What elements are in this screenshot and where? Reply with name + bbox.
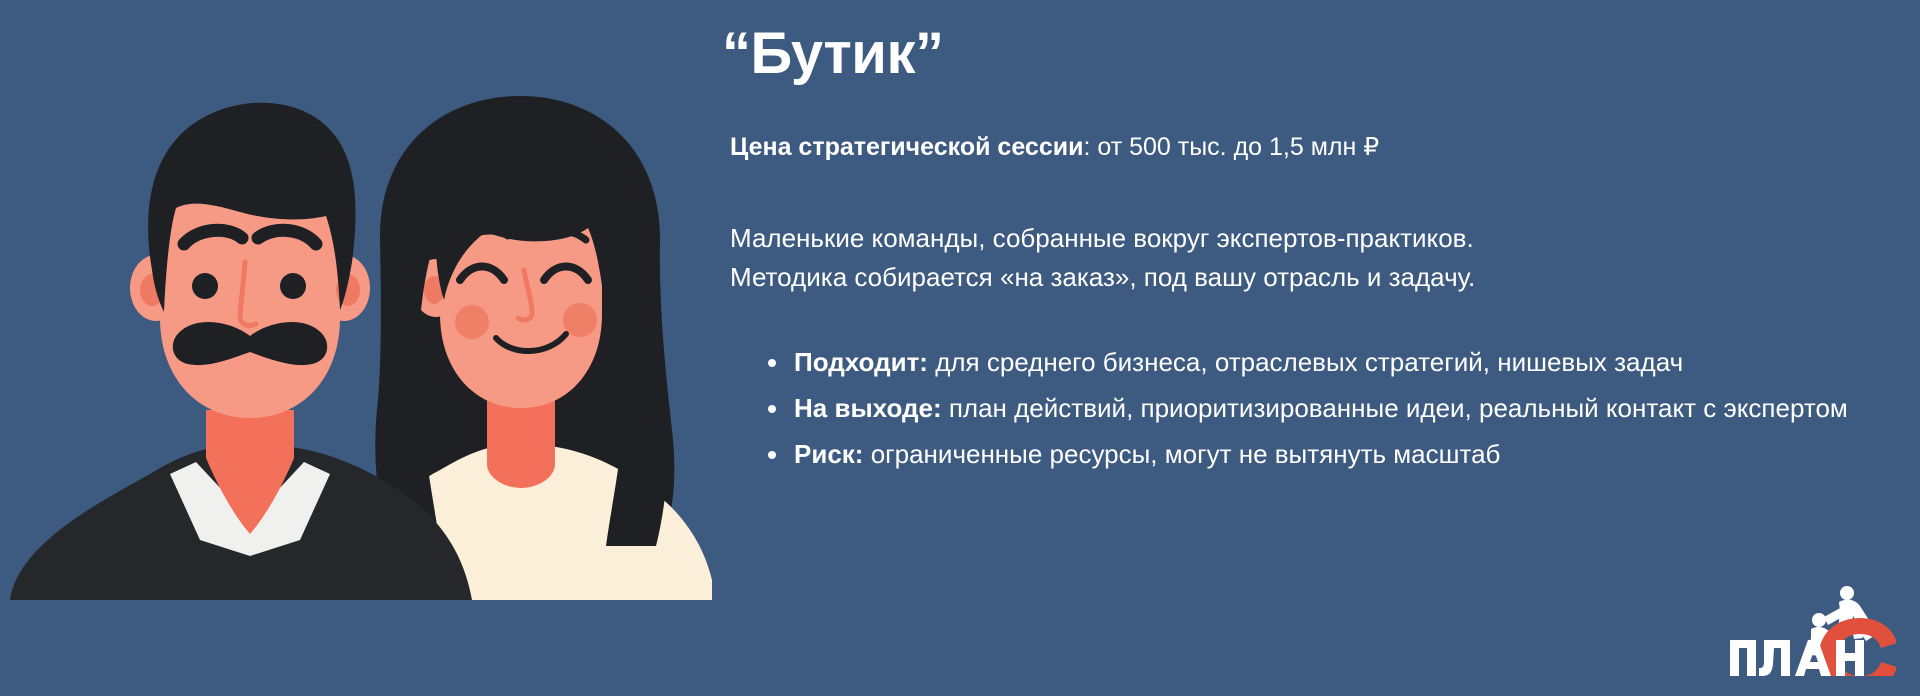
description-line-1: Маленькие команды, собранные вокруг эксп… — [730, 223, 1474, 253]
bullet-list: Подходит: для среднего бизнеса, отраслев… — [722, 344, 1862, 474]
description-paragraph: Маленькие команды, собранные вокруг эксп… — [722, 219, 1862, 298]
bullet-lead: На выходе: — [794, 393, 942, 423]
list-item: Риск: ограниченные ресурсы, могут не выт… — [768, 436, 1862, 474]
list-item: На выходе: план действий, приоритизирова… — [768, 390, 1862, 428]
text-column: “Бутик” Цена стратегической сессии: от 5… — [722, 24, 1862, 482]
list-item: Подходит: для среднего бизнеса, отраслев… — [768, 344, 1862, 382]
bullet-text: для среднего бизнеса, отраслевых стратег… — [928, 347, 1683, 377]
bullet-text: план действий, приоритизированные идеи, … — [942, 393, 1848, 423]
bullet-lead: Риск: — [794, 439, 863, 469]
page-title: “Бутик” — [722, 24, 1862, 85]
slide-root: “Бутик” Цена стратегической сессии: от 5… — [0, 0, 1920, 696]
bullet-lead: Подходит: — [794, 347, 928, 377]
plan-s-logo — [1726, 584, 1896, 676]
bullet-text: ограниченные ресурсы, могут не вытянуть … — [863, 439, 1500, 469]
logo-wordmark — [1730, 640, 1864, 676]
price-label: Цена стратегической сессии — [730, 133, 1083, 161]
couple-illustration — [0, 0, 720, 600]
description-line-2: Методика собирается «на заказ», под вашу… — [730, 262, 1475, 292]
price-line: Цена стратегической сессии: от 500 тыс. … — [722, 131, 1862, 165]
price-value: : от 500 тыс. до 1,5 млн ₽ — [1083, 133, 1379, 161]
